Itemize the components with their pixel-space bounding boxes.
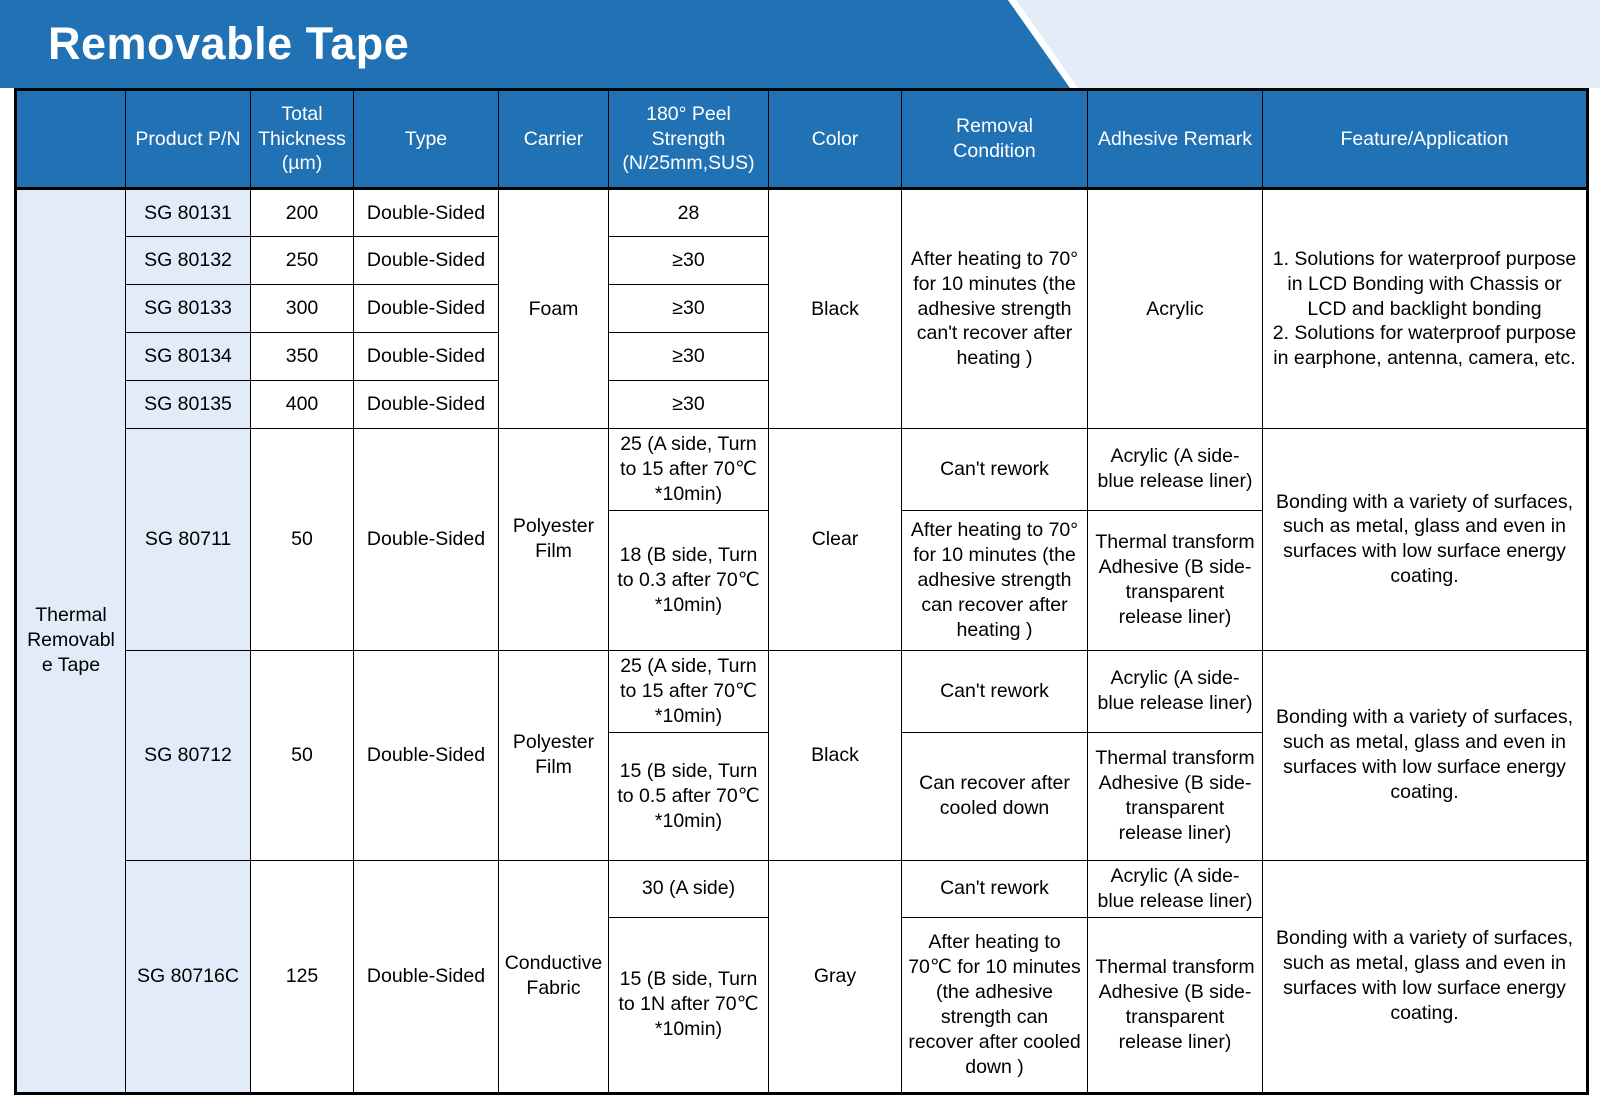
cell-peel-strength: 15 (B side, Turn to 1N after 70℃ *10min) bbox=[609, 917, 769, 1093]
header-line: Total bbox=[281, 103, 322, 125]
header-line: Type bbox=[405, 128, 447, 150]
cell-removal-condition: After heating to 70° for 10 minutes (the… bbox=[902, 189, 1088, 429]
page-banner: Removable Tape bbox=[0, 0, 1600, 88]
header-line: Color bbox=[812, 128, 859, 150]
table-body: Thermal Removable Tape SG 80131 200 Doub… bbox=[16, 189, 1588, 1094]
cell-adhesive-remark: Thermal transform Adhesive (B side-trans… bbox=[1088, 510, 1263, 650]
table-header: Product P/N Total Thickness (µm) Type Ca… bbox=[16, 90, 1588, 189]
cell-type: Double-Sided bbox=[354, 860, 499, 1093]
cell-product-pn: SG 80712 bbox=[126, 650, 251, 860]
cell-carrier: Conductive Fabric bbox=[499, 860, 609, 1093]
header-line: Removal bbox=[956, 115, 1033, 137]
cell-removal-condition: Can't rework bbox=[902, 650, 1088, 732]
table-row: SG 80711 50 Double-Sided Polyester Film … bbox=[16, 429, 1588, 511]
column-header-peel-strength: 180° Peel Strength (N/25mm,SUS) bbox=[609, 90, 769, 189]
cell-peel-strength: ≥30 bbox=[609, 333, 769, 381]
spec-table-container: Product P/N Total Thickness (µm) Type Ca… bbox=[14, 88, 1586, 1095]
column-header-total-thickness: Total Thickness (µm) bbox=[251, 90, 354, 189]
column-header-product-pn: Product P/N bbox=[126, 90, 251, 189]
header-line: Thickness bbox=[258, 128, 346, 150]
cell-feature-application: Bonding with a variety of surfaces, such… bbox=[1263, 650, 1588, 860]
cell-thickness: 250 bbox=[251, 237, 354, 285]
cell-thickness: 300 bbox=[251, 285, 354, 333]
cell-feature-application: 1. Solutions for waterproof purpose in L… bbox=[1263, 189, 1588, 429]
header-line: (N/25mm,SUS) bbox=[622, 152, 754, 174]
removable-tape-spec-table: Product P/N Total Thickness (µm) Type Ca… bbox=[14, 88, 1589, 1095]
cell-product-pn: SG 80716C bbox=[126, 860, 251, 1093]
header-line: Condition bbox=[953, 140, 1035, 162]
header-line: Strength bbox=[652, 128, 726, 150]
cell-thickness: 200 bbox=[251, 189, 354, 237]
cell-adhesive-remark: Thermal transform Adhesive (B side-trans… bbox=[1088, 917, 1263, 1093]
table-header-row: Product P/N Total Thickness (µm) Type Ca… bbox=[16, 90, 1588, 189]
header-line: Product P/N bbox=[135, 128, 240, 150]
cell-carrier: Polyester Film bbox=[499, 650, 609, 860]
cell-peel-strength: 30 (A side) bbox=[609, 860, 769, 917]
cell-peel-strength: 28 bbox=[609, 189, 769, 237]
page-title: Removable Tape bbox=[48, 18, 409, 70]
header-line: Feature/Application bbox=[1340, 128, 1508, 150]
cell-thickness: 50 bbox=[251, 650, 354, 860]
cell-adhesive-remark: Acrylic (A side-blue release liner) bbox=[1088, 860, 1263, 917]
cell-peel-strength: 25 (A side, Turn to 15 after 70℃ *10min) bbox=[609, 429, 769, 511]
cell-peel-strength: ≥30 bbox=[609, 285, 769, 333]
cell-color: Black bbox=[769, 650, 902, 860]
column-header-removal-condition: Removal Condition bbox=[902, 90, 1088, 189]
cell-removal-condition: After heating to 70℃ for 10 minutes (the… bbox=[902, 917, 1088, 1093]
column-header-carrier: Carrier bbox=[499, 90, 609, 189]
column-header-adhesive-remark: Adhesive Remark bbox=[1088, 90, 1263, 189]
cell-peel-strength: 15 (B side, Turn to 0.5 after 70℃ *10min… bbox=[609, 732, 769, 860]
table-row: SG 80712 50 Double-Sided Polyester Film … bbox=[16, 650, 1588, 732]
cell-product-pn: SG 80134 bbox=[126, 333, 251, 381]
cell-type: Double-Sided bbox=[354, 381, 499, 429]
cell-color: Black bbox=[769, 189, 902, 429]
cell-product-pn: SG 80131 bbox=[126, 189, 251, 237]
cell-type: Double-Sided bbox=[354, 237, 499, 285]
cell-color: Clear bbox=[769, 429, 902, 651]
table-row: SG 80716C 125 Double-Sided Conductive Fa… bbox=[16, 860, 1588, 917]
header-line: 180° Peel bbox=[646, 103, 731, 125]
column-header-color: Color bbox=[769, 90, 902, 189]
cell-product-pn: SG 80135 bbox=[126, 381, 251, 429]
cell-removal-condition: Can't rework bbox=[902, 429, 1088, 511]
table-row: Thermal Removable Tape SG 80131 200 Doub… bbox=[16, 189, 1588, 237]
cell-product-pn: SG 80711 bbox=[126, 429, 251, 651]
cell-thickness: 125 bbox=[251, 860, 354, 1093]
cell-thickness: 350 bbox=[251, 333, 354, 381]
cell-removal-condition: Can't rework bbox=[902, 860, 1088, 917]
cell-type: Double-Sided bbox=[354, 189, 499, 237]
cell-adhesive-remark: Acrylic bbox=[1088, 189, 1263, 429]
cell-peel-strength: 25 (A side, Turn to 15 after 70℃ *10min) bbox=[609, 650, 769, 732]
cell-peel-strength: ≥30 bbox=[609, 381, 769, 429]
cell-thickness: 50 bbox=[251, 429, 354, 651]
cell-carrier: Foam bbox=[499, 189, 609, 429]
cell-peel-strength: ≥30 bbox=[609, 237, 769, 285]
cell-product-pn: SG 80132 bbox=[126, 237, 251, 285]
cell-type: Double-Sided bbox=[354, 429, 499, 651]
cell-adhesive-remark: Thermal transform Adhesive (B side-trans… bbox=[1088, 732, 1263, 860]
cell-peel-strength: 18 (B side, Turn to 0.3 after 70℃ *10min… bbox=[609, 510, 769, 650]
column-header-feature-application: Feature/Application bbox=[1263, 90, 1588, 189]
cell-color: Gray bbox=[769, 860, 902, 1093]
cell-adhesive-remark: Acrylic (A side-blue release liner) bbox=[1088, 429, 1263, 511]
cell-product-pn: SG 80133 bbox=[126, 285, 251, 333]
cell-thickness: 400 bbox=[251, 381, 354, 429]
cell-carrier: Polyester Film bbox=[499, 429, 609, 651]
cell-feature-application: Bonding with a variety of surfaces, such… bbox=[1263, 860, 1588, 1093]
cell-removal-condition: Can recover after cooled down bbox=[902, 732, 1088, 860]
cell-type: Double-Sided bbox=[354, 650, 499, 860]
cell-removal-condition: After heating to 70° for 10 minutes (the… bbox=[902, 510, 1088, 650]
header-line: (µm) bbox=[282, 152, 322, 174]
column-header-category bbox=[16, 90, 126, 189]
header-line: Carrier bbox=[524, 128, 584, 150]
header-line: Adhesive Remark bbox=[1098, 128, 1252, 150]
column-header-type: Type bbox=[354, 90, 499, 189]
cell-type: Double-Sided bbox=[354, 333, 499, 381]
cell-type: Double-Sided bbox=[354, 285, 499, 333]
cell-adhesive-remark: Acrylic (A side-blue release liner) bbox=[1088, 650, 1263, 732]
category-label-cell: Thermal Removable Tape bbox=[16, 189, 126, 1094]
cell-feature-application: Bonding with a variety of surfaces, such… bbox=[1263, 429, 1588, 651]
